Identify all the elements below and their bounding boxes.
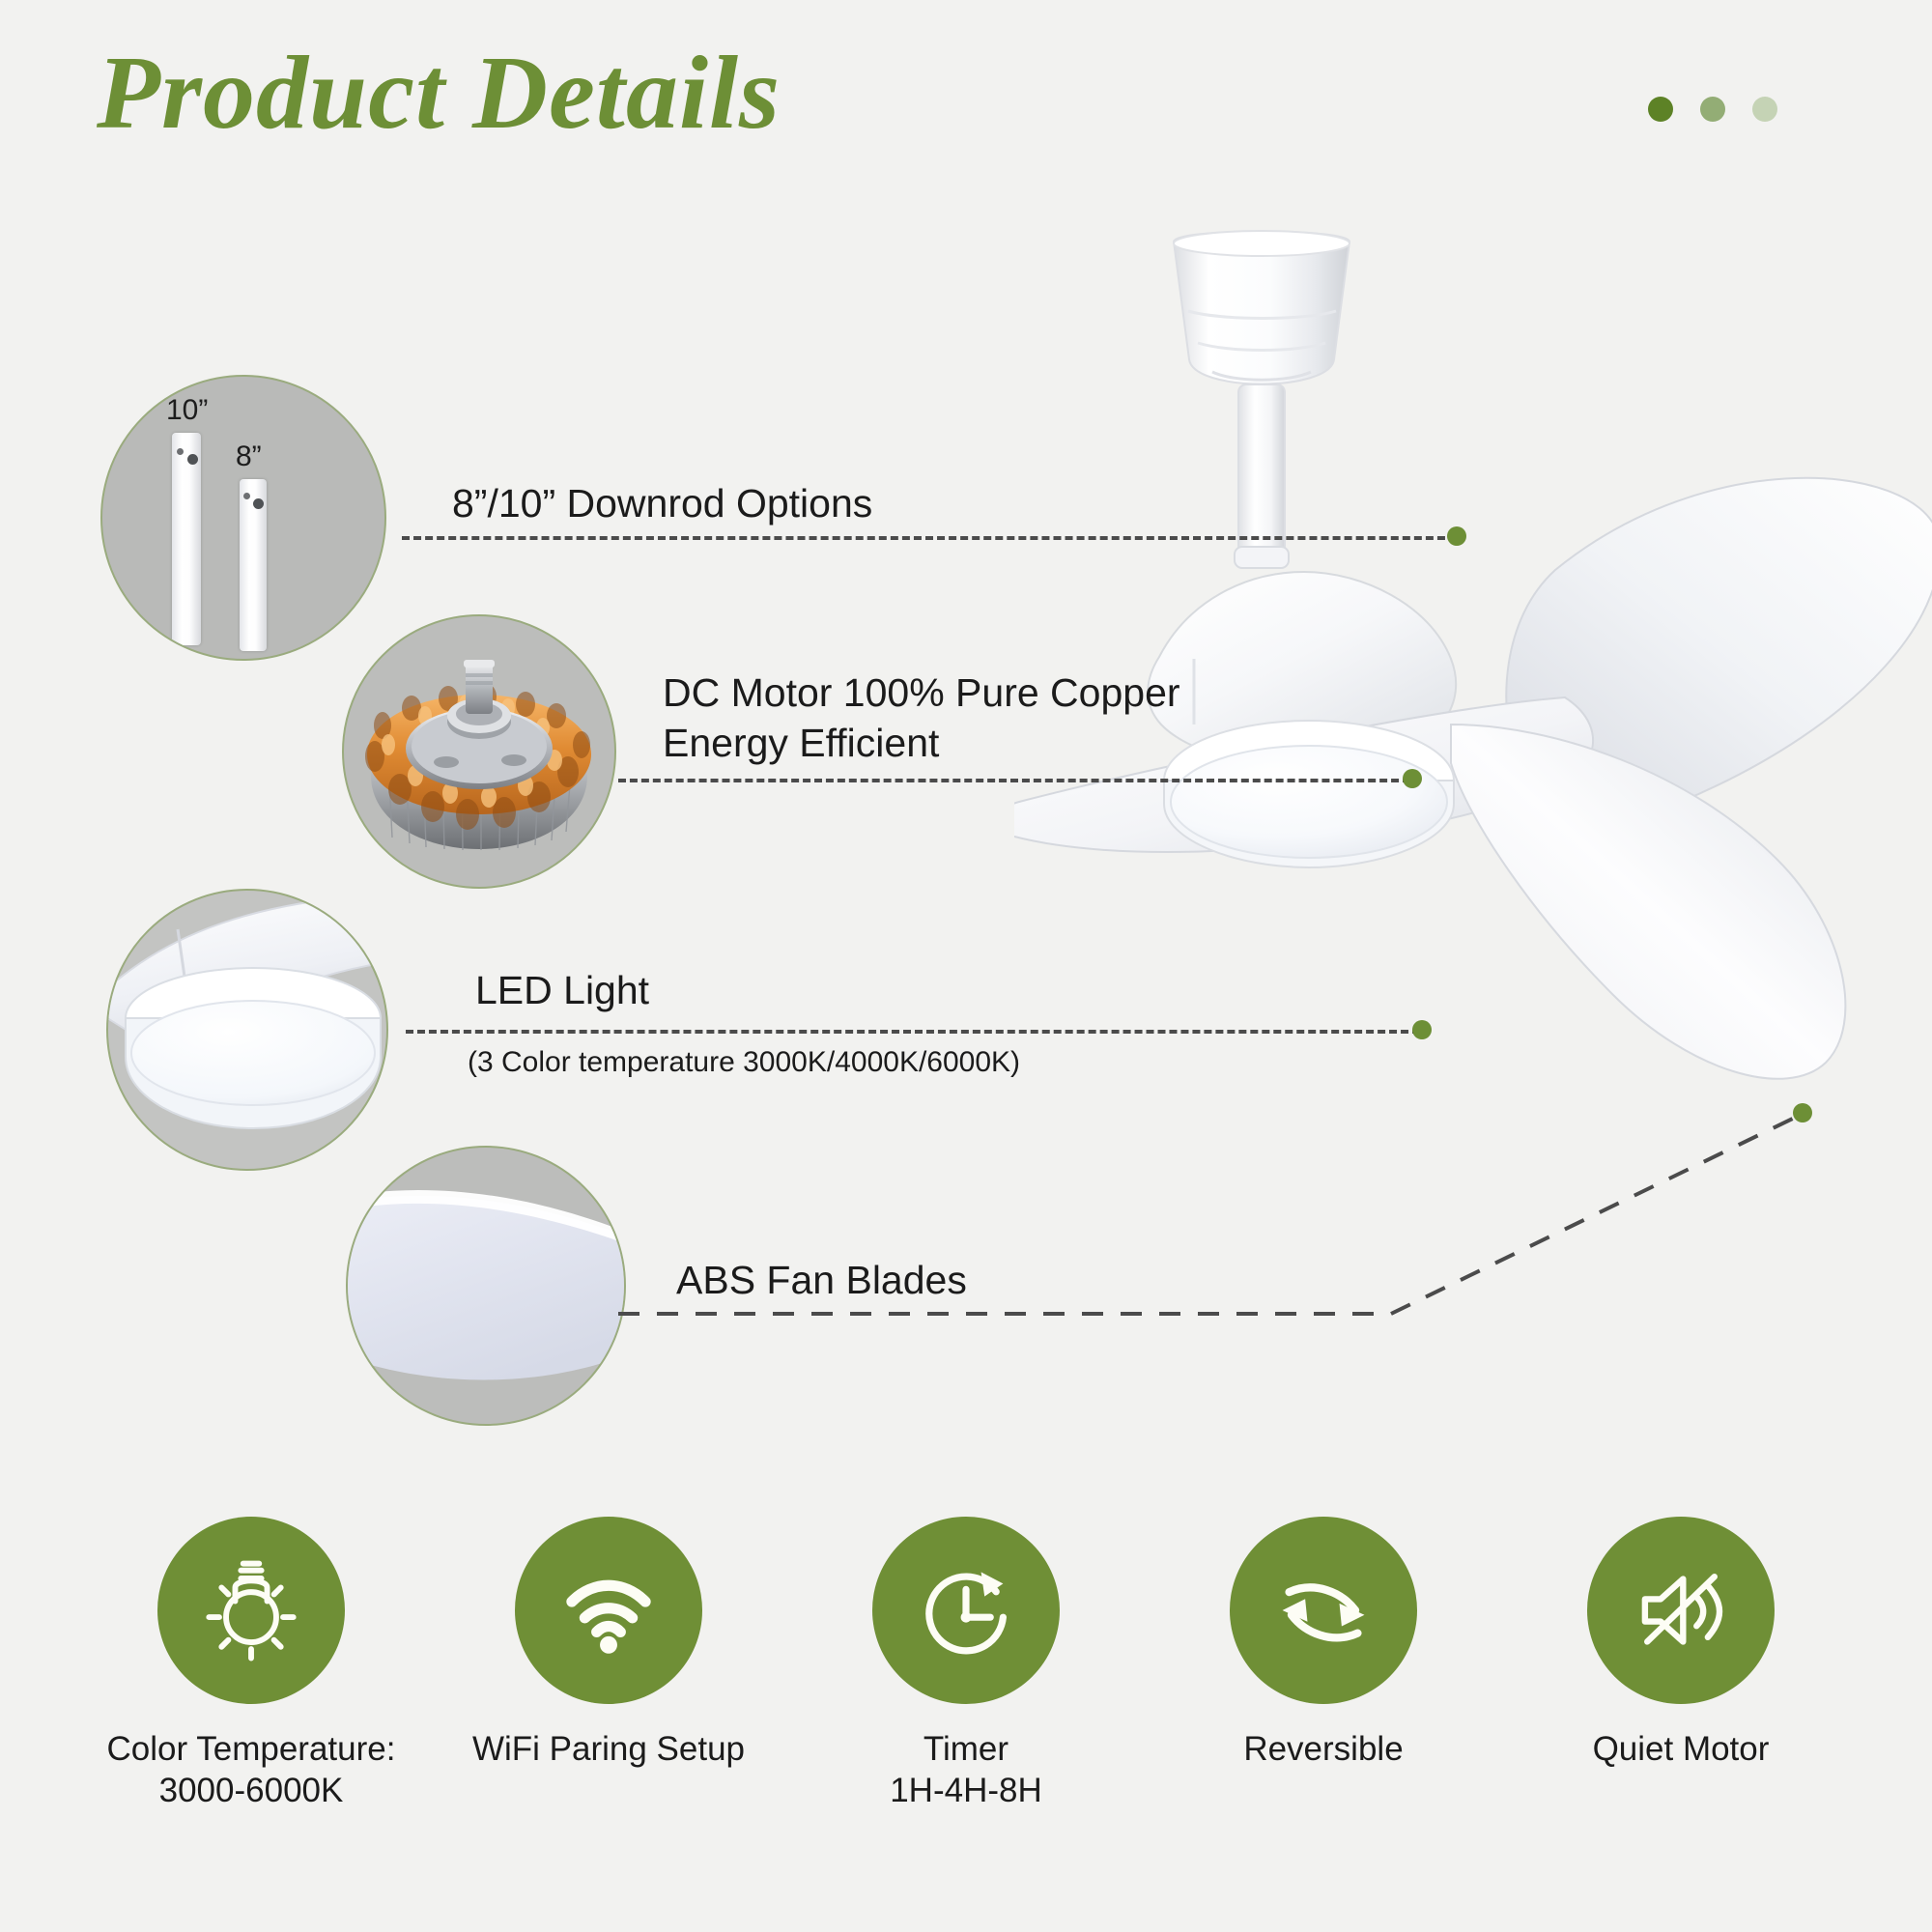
feature-label-wifi: WiFi Paring Setup [472, 1729, 745, 1771]
callout-motor-label-line1: DC Motor 100% Pure Copper [663, 668, 1180, 717]
downrod-8in-rod [240, 479, 267, 651]
led-light-illustration [108, 891, 386, 1169]
dc-motor-stator-illustration [354, 648, 605, 870]
product-details-page: Product Details [0, 0, 1932, 1932]
reversible-arrows-icon [1266, 1553, 1380, 1667]
callout-motor-label-line2: Energy Efficient [663, 719, 939, 767]
leader-line-led [406, 1030, 1420, 1034]
leader-dot-led [1412, 1020, 1432, 1039]
feature-badge-quiet-motor [1587, 1517, 1775, 1704]
abs-fan-blade-illustration [348, 1148, 624, 1424]
dc-motor-thumbnail [342, 614, 616, 889]
feature-badge-reversible [1230, 1517, 1417, 1704]
leader-line-blades [618, 1092, 1855, 1343]
callout-led-label: LED Light [475, 966, 649, 1014]
feature-label-timer: Timer 1H-4H-8H [890, 1729, 1042, 1811]
header-dots [1648, 97, 1777, 122]
feature-label-quiet-motor: Quiet Motor [1593, 1729, 1770, 1771]
header-dot-3 [1752, 97, 1777, 122]
downrod-8in-label: 8” [236, 440, 262, 473]
feature-row: Color Temperature: 3000-6000K WiFi Parin… [0, 1517, 1932, 1811]
callout-downrod-label: 8”/10” Downrod Options [452, 479, 872, 527]
led-light-thumbnail [106, 889, 388, 1171]
downrod-10in-rod [172, 433, 201, 645]
header-dot-1 [1648, 97, 1673, 122]
wifi-icon [554, 1556, 663, 1664]
feature-badge-wifi [515, 1517, 702, 1704]
feature-timer[interactable]: Timer 1H-4H-8H [821, 1517, 1111, 1811]
feature-label-reversible: Reversible [1243, 1729, 1403, 1771]
header-dot-2 [1700, 97, 1725, 122]
feature-badge-color-temperature [157, 1517, 345, 1704]
feature-color-temperature[interactable]: Color Temperature: 3000-6000K [106, 1517, 396, 1811]
feature-wifi-pairing[interactable]: WiFi Paring Setup [464, 1517, 753, 1811]
callout-blades-label: ABS Fan Blades [676, 1256, 967, 1304]
mute-speaker-icon [1625, 1554, 1737, 1666]
timer-clock-icon [908, 1552, 1024, 1668]
feature-label-color-temperature: Color Temperature: 3000-6000K [107, 1729, 396, 1811]
downrod-10in-label: 10” [166, 394, 208, 427]
leader-line-downrod [402, 536, 1457, 540]
feature-reversible[interactable]: Reversible [1179, 1517, 1468, 1811]
light-bulb-icon [194, 1553, 308, 1667]
callout-led-sublabel: (3 Color temperature 3000K/4000K/6000K) [468, 1045, 1020, 1081]
leader-dot-blades [1793, 1103, 1812, 1122]
abs-fan-blade-thumbnail [346, 1146, 626, 1426]
feature-quiet-motor[interactable]: Quiet Motor [1536, 1517, 1826, 1811]
leader-dot-motor [1403, 769, 1422, 788]
leader-line-motor [618, 779, 1410, 782]
leader-dot-downrod [1447, 526, 1466, 546]
downrod-thumbnail: 10” 8” [100, 375, 386, 661]
feature-badge-timer [872, 1517, 1060, 1704]
page-title: Product Details [97, 37, 781, 152]
